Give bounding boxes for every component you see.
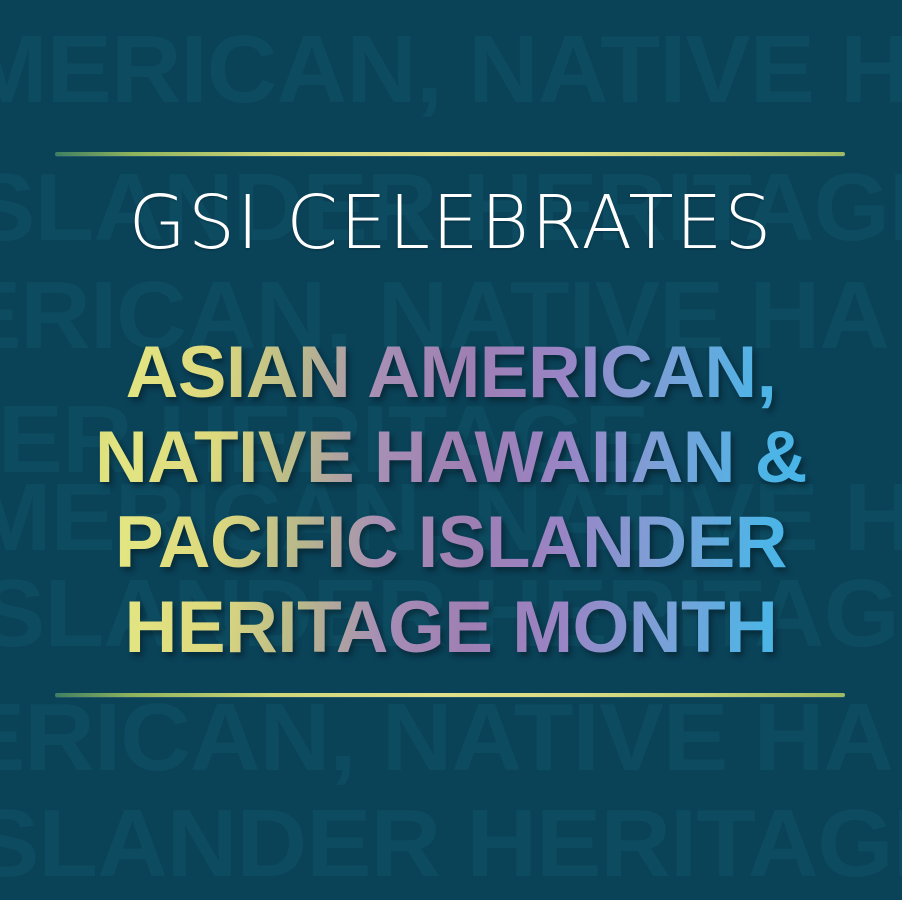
- poster-canvas: MERICAN, NATIVE H ISLANDER HERITAGE ERIC…: [0, 0, 902, 900]
- poster-content: GSI CELEBRATES ASIAN AMERICAN, NATIVE HA…: [0, 0, 902, 900]
- headline-block: ASIAN AMERICAN, NATIVE HAWAIIAN & PACIFI…: [0, 330, 902, 670]
- page-title-eyebrow: GSI CELEBRATES: [0, 186, 902, 260]
- top-divider-rule: [55, 152, 845, 156]
- headline-line: HERITAGE MONTH: [0, 585, 902, 670]
- bottom-divider-rule: [55, 693, 845, 697]
- headline-line: PACIFIC ISLANDER: [0, 500, 902, 585]
- headline-line: ASIAN AMERICAN,: [0, 330, 902, 415]
- headline-line: NATIVE HAWAIIAN &: [0, 415, 902, 500]
